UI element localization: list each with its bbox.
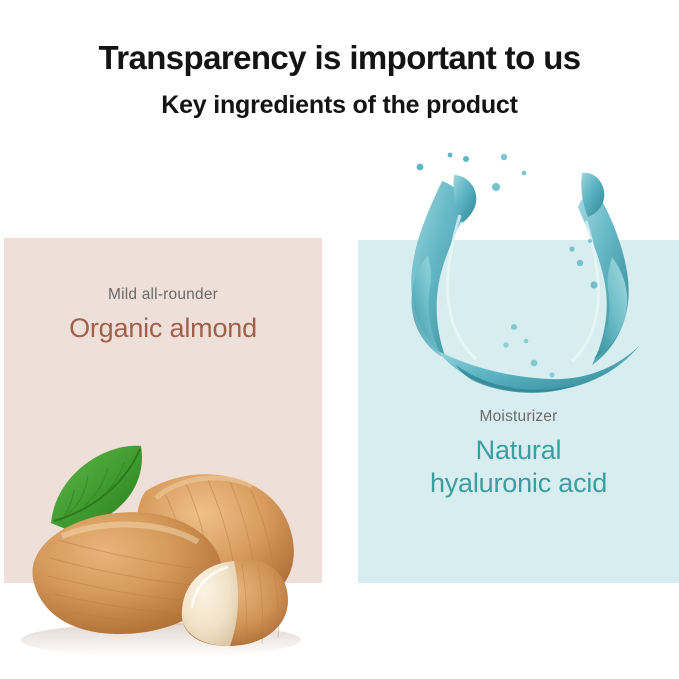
almonds-with-leaf-photo bbox=[0, 418, 336, 668]
ingredient-card-natural-hyaluronic-acid: Moisturizer Natural hyaluronic acid bbox=[358, 240, 679, 583]
ingredient-card-organic-almond: Mild all-rounder Organic almond bbox=[4, 238, 322, 583]
water-splash-crown-illustration bbox=[368, 145, 668, 415]
almond-text-block: Mild all-rounder Organic almond bbox=[4, 286, 322, 345]
ingredient-panels: Mild all-rounder Organic almond bbox=[0, 0, 679, 679]
almond-ingredient-name: Organic almond bbox=[4, 305, 322, 345]
almond-eyebrow-label: Mild all-rounder bbox=[4, 286, 322, 305]
hyaluronic-ingredient-name-line2: hyaluronic acid bbox=[358, 467, 679, 500]
hyaluronic-ingredient-name-line1: Natural bbox=[358, 427, 679, 467]
hyaluronic-text-block: Moisturizer Natural hyaluronic acid bbox=[358, 408, 679, 499]
